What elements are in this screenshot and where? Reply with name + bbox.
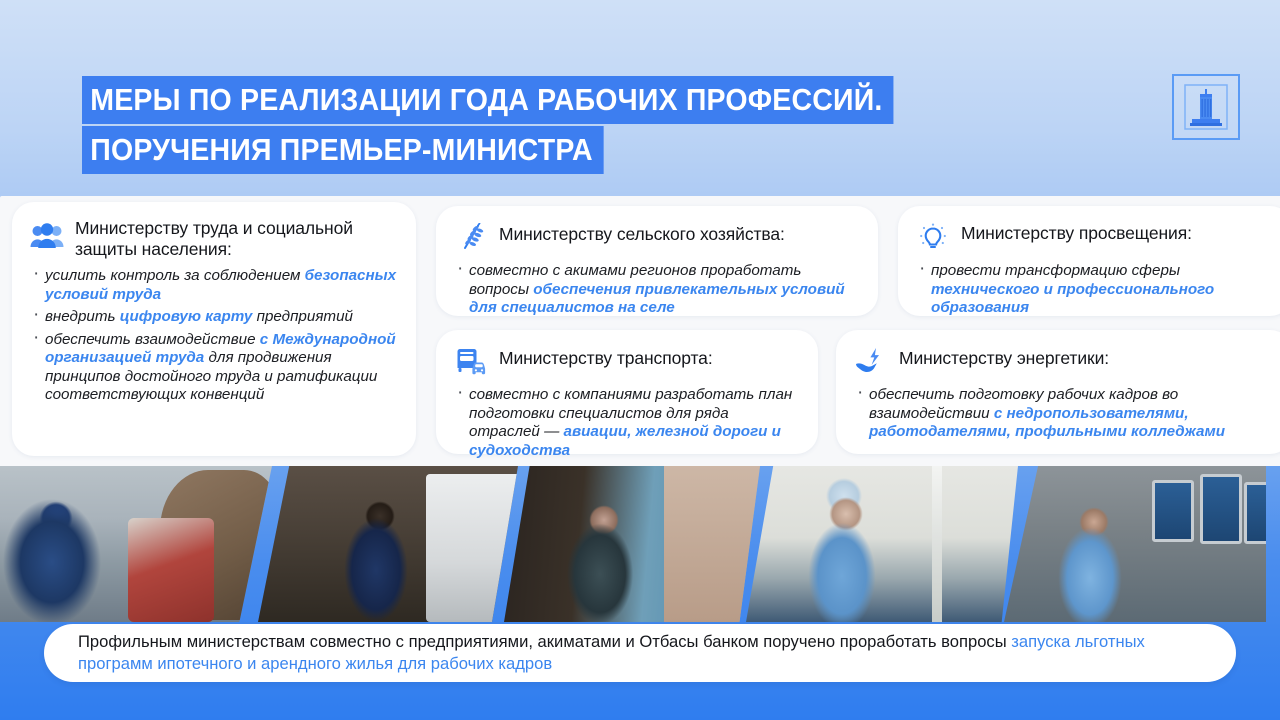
card-header: Министерству сельского хозяйства: xyxy=(454,220,860,255)
wheat-ear-icon xyxy=(454,221,488,255)
bullet-item: совместно с компаниями разработать план … xyxy=(454,386,800,460)
photo-strip xyxy=(0,466,1280,622)
banner-text: Профильным министерствам совместно с пре… xyxy=(78,631,1202,675)
card-bullet-list: совместно с акимами регионов проработать… xyxy=(454,262,860,318)
government-building-logo xyxy=(1172,74,1240,140)
photo-worker-control-panel xyxy=(0,466,272,622)
bullet-text: обеспечить взаимодействие xyxy=(45,331,260,348)
card-ministry-labor: Министерству труда и социальной защиты н… xyxy=(12,202,416,456)
photo-decor xyxy=(444,488,484,518)
photo-decor xyxy=(664,466,760,622)
photo-decor xyxy=(1200,474,1242,544)
bottom-banner: Профильным министерствам совместно с пре… xyxy=(44,624,1236,682)
card-header: Министерству энергетики: xyxy=(854,344,1274,379)
bullet-highlight: цифровую карту xyxy=(120,308,253,325)
photo-control-room-operators xyxy=(1004,466,1266,622)
bullet-item: обеспечить взаимодействие с Международно… xyxy=(30,331,398,405)
photo-worker-industrial-press xyxy=(504,466,760,622)
bullet-item: обеспечить подготовку рабочих кадров во … xyxy=(854,386,1274,442)
hand-lightning-icon xyxy=(854,345,888,379)
people-group-icon xyxy=(30,219,64,253)
bullet-text: предприятий xyxy=(252,308,353,325)
page-title-line-1: МЕРЫ ПО РЕАЛИЗАЦИИ ГОДА РАБОЧИХ ПРОФЕССИ… xyxy=(82,76,894,124)
bullet-text: внедрить xyxy=(45,308,120,325)
bullet-item: усилить контроль за соблюдением безопасн… xyxy=(30,267,398,304)
card-header: Министерству транспорта: xyxy=(454,344,800,379)
bus-car-icon xyxy=(454,345,488,379)
card-ministry-energy: Министерству энергетики: обеспечить подг… xyxy=(836,330,1280,454)
card-title: Министерству просвещения: xyxy=(961,220,1192,243)
photo-decor xyxy=(1152,480,1194,542)
lightbulb-icon xyxy=(916,221,950,255)
card-bullet-list: усилить контроль за соблюдением безопасн… xyxy=(30,267,398,405)
bullet-text: усилить контроль за соблюдением xyxy=(45,267,305,284)
bullet-item: совместно с акимами регионов проработать… xyxy=(454,262,860,318)
directives-panel: Министерству труда и социальной защиты н… xyxy=(0,196,1280,466)
card-title: Министерству труда и социальной защиты н… xyxy=(75,218,398,260)
bullet-item: провести трансформацию сферы техническог… xyxy=(916,262,1274,318)
card-title: Министерству сельского хозяйства: xyxy=(499,220,785,244)
page-title: МЕРЫ ПО РЕАЛИЗАЦИИ ГОДА РАБОЧИХ ПРОФЕССИ… xyxy=(82,76,964,174)
header: МЕРЫ ПО РЕАЛИЗАЦИИ ГОДА РАБОЧИХ ПРОФЕССИ… xyxy=(0,0,1280,196)
card-ministry-agriculture: Министерству сельского хозяйства: совмес… xyxy=(436,206,878,316)
bullet-item: внедрить цифровую карту предприятий xyxy=(30,308,398,327)
bullet-text: провести трансформацию сферы xyxy=(931,262,1180,279)
bullet-highlight: технического и профессионального образов… xyxy=(931,281,1214,317)
page-title-line-2: ПОРУЧЕНИЯ ПРЕМЬЕР-МИНИСТРА xyxy=(82,126,604,174)
photo-decor xyxy=(1244,482,1266,544)
card-bullet-list: провести трансформацию сферы техническог… xyxy=(916,262,1274,318)
card-ministry-education: Министерству просвещения: провести транс… xyxy=(898,206,1280,316)
card-header: Министерству просвещения: xyxy=(916,220,1274,255)
card-bullet-list: обеспечить подготовку рабочих кадров во … xyxy=(854,386,1274,442)
photo-decor xyxy=(160,470,272,620)
photo-lab-technician-production xyxy=(746,466,1018,622)
card-header: Министерству труда и социальной защиты н… xyxy=(30,218,398,260)
card-ministry-transport: Министерству транспорта: совместно с ком… xyxy=(436,330,818,454)
photo-operator-cnc-machine xyxy=(258,466,518,622)
card-title: Министерству транспорта: xyxy=(499,344,713,368)
card-bullet-list: совместно с компаниями разработать план … xyxy=(454,386,800,460)
banner-text-plain: Профильным министерствам совместно с пре… xyxy=(78,632,1011,651)
card-title: Министерству энергетики: xyxy=(899,344,1109,368)
